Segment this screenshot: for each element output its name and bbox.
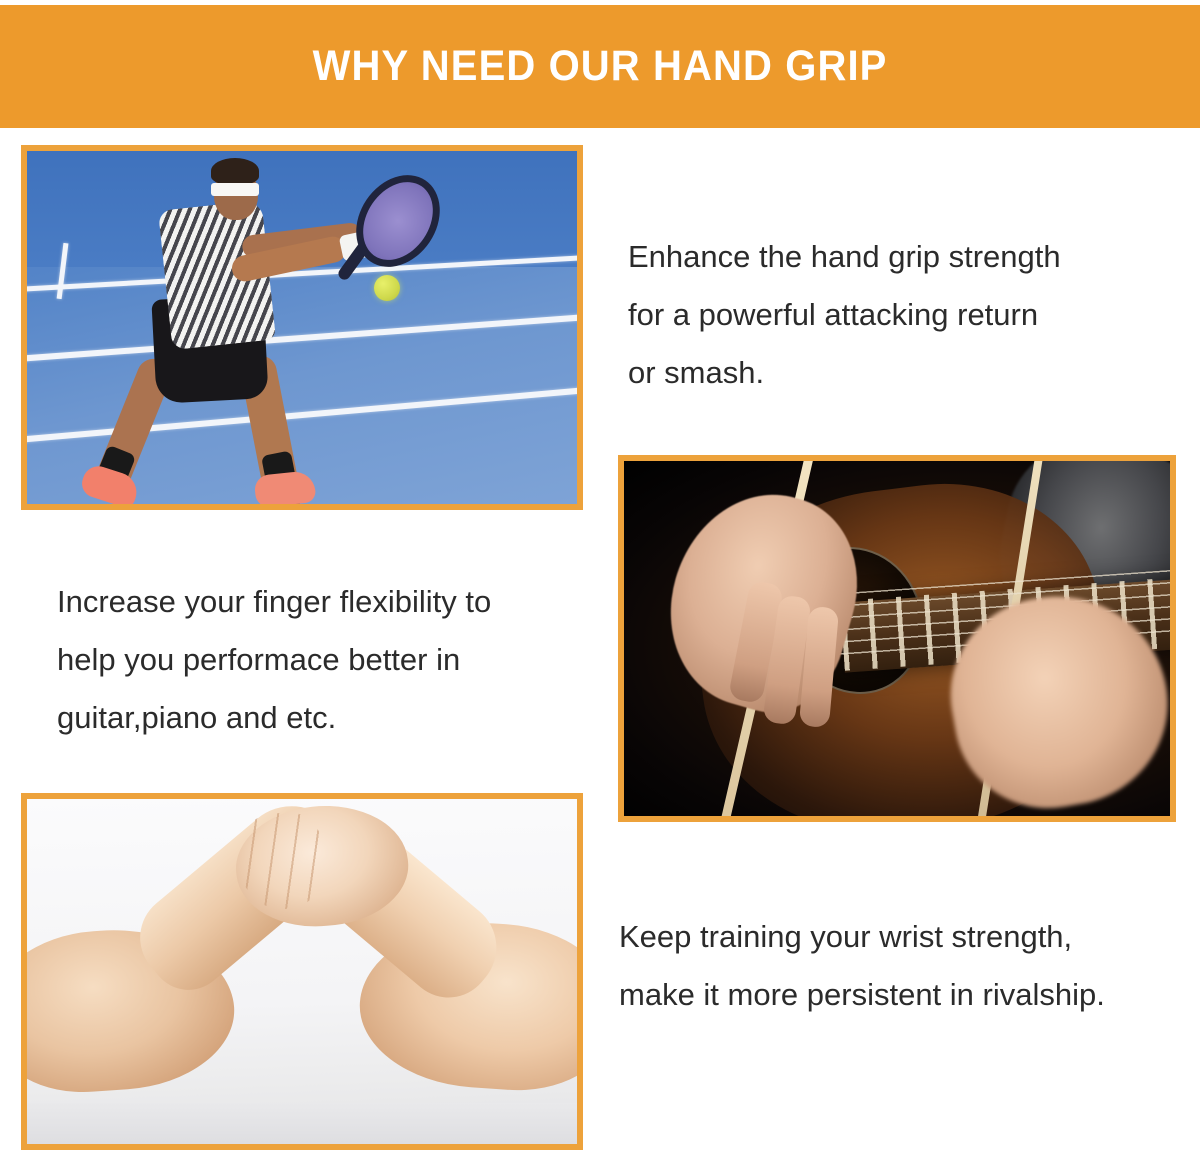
copy-line: help you performace better in bbox=[57, 631, 491, 689]
wrist-copy-block: Keep training your wrist strength, make … bbox=[619, 908, 1105, 1024]
copy-line: Increase your finger flexibility to bbox=[57, 573, 491, 631]
page-title: WHY NEED OUR HAND GRIP bbox=[313, 45, 888, 88]
copy-line: guitar,piano and etc. bbox=[57, 689, 491, 747]
copy-line: or smash. bbox=[628, 344, 1061, 402]
guitar-playing-photo bbox=[618, 455, 1176, 822]
player-hair bbox=[211, 158, 259, 184]
tennis-player-figure bbox=[99, 158, 374, 497]
arm-wrestling-scene bbox=[27, 799, 577, 1144]
table-surface bbox=[27, 1103, 577, 1144]
tennis-copy-block: Enhance the hand grip strength for a pow… bbox=[628, 228, 1061, 402]
guitar-scene bbox=[624, 461, 1170, 816]
tennis-ball bbox=[374, 275, 400, 301]
arm-wrestling-photo bbox=[21, 793, 583, 1150]
copy-line: Enhance the hand grip strength bbox=[628, 228, 1061, 286]
player-headband bbox=[211, 183, 259, 196]
tennis-player-photo bbox=[21, 145, 583, 510]
music-copy-block: Increase your finger flexibility to help… bbox=[57, 573, 491, 747]
copy-line: Keep training your wrist strength, bbox=[619, 908, 1105, 966]
copy-line: for a powerful attacking return bbox=[628, 286, 1061, 344]
copy-line: make it more persistent in rivalship. bbox=[619, 966, 1105, 1024]
tennis-scene bbox=[27, 151, 577, 504]
player-right-shoe bbox=[254, 470, 317, 504]
header-banner: WHY NEED OUR HAND GRIP bbox=[0, 5, 1200, 128]
